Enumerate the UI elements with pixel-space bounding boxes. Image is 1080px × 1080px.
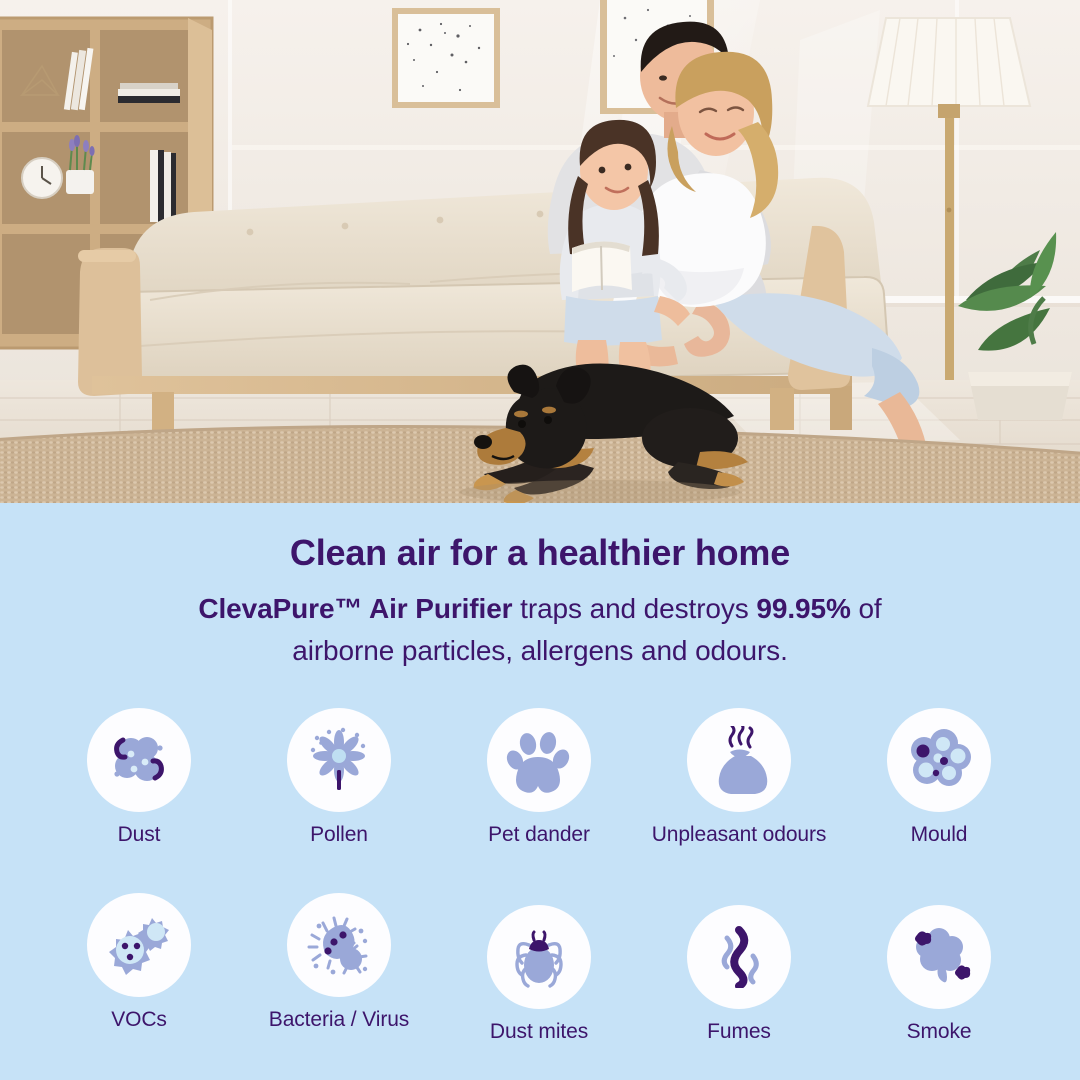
feature-label: Dust mites	[431, 1020, 647, 1044]
dust-icon	[103, 724, 175, 796]
feature-grid: Dust	[0, 693, 1080, 1080]
feature-item-unpleasant-odours[interactable]: Unpleasant odours	[631, 708, 847, 847]
info-panel: Clean air for a healthier home ClevaPure…	[0, 503, 1080, 1080]
feature-label: Pet dander	[431, 823, 647, 847]
wall-art-left	[392, 8, 500, 108]
feature-label: Mould	[831, 823, 1047, 847]
smoke-icon	[905, 923, 973, 991]
feature-label: Pollen	[231, 823, 447, 847]
odour-bag-icon	[705, 726, 773, 794]
feature-item-dust[interactable]: Dust	[31, 708, 247, 847]
subcopy-mid: traps and destroys	[512, 593, 756, 624]
fumes-icon	[708, 926, 770, 988]
feature-label: Unpleasant odours	[631, 823, 847, 847]
product-feature-panel: Clean air for a healthier home ClevaPure…	[0, 0, 1080, 1080]
feature-label: VOCs	[31, 1008, 247, 1032]
feature-label: Fumes	[631, 1020, 847, 1044]
feature-label: Bacteria / Virus	[231, 1008, 447, 1032]
efficiency-stat: 99.95%	[756, 593, 850, 624]
feature-icon-disc	[887, 708, 991, 812]
feature-item-fumes[interactable]: Fumes	[631, 905, 847, 1044]
mould-icon	[904, 725, 974, 795]
mite-icon	[507, 925, 571, 989]
feature-icon-disc	[687, 708, 791, 812]
feature-label: Dust	[31, 823, 247, 847]
feature-icon-disc	[87, 708, 191, 812]
subheadline: ClevaPure™ Air Purifier traps and destro…	[90, 588, 990, 672]
feature-icon-disc	[287, 708, 391, 812]
feature-item-pollen[interactable]: Pollen	[231, 708, 447, 847]
open-book	[572, 241, 632, 292]
feature-icon-disc	[487, 905, 591, 1009]
subcopy-line2: airborne particles, allergens and odours…	[292, 635, 788, 666]
feature-item-dust-mites[interactable]: Dust mites	[431, 905, 647, 1044]
bacteria-icon	[303, 909, 375, 981]
brand-name: ClevaPure™ Air Purifier	[198, 593, 512, 624]
feature-item-mould[interactable]: Mould	[831, 708, 1047, 847]
feature-item-bacteria-virus[interactable]: Bacteria / Virus	[231, 893, 447, 1032]
feature-icon-disc	[887, 905, 991, 1009]
feature-icon-disc	[87, 893, 191, 997]
voc-icon	[104, 910, 174, 980]
feature-item-smoke[interactable]: Smoke	[831, 905, 1047, 1044]
feature-item-vocs[interactable]: VOCs	[31, 893, 247, 1032]
feature-label: Smoke	[831, 1020, 1047, 1044]
feature-icon-disc	[687, 905, 791, 1009]
subcopy-tail: of	[851, 593, 882, 624]
feature-icon-disc	[287, 893, 391, 997]
paw-icon	[506, 727, 572, 793]
pollen-icon	[303, 724, 375, 796]
family-living-room-photo	[0, 0, 1080, 503]
page-title: Clean air for a healthier home	[0, 532, 1080, 574]
feature-item-pet-dander[interactable]: Pet dander	[431, 708, 647, 847]
feature-icon-disc	[487, 708, 591, 812]
